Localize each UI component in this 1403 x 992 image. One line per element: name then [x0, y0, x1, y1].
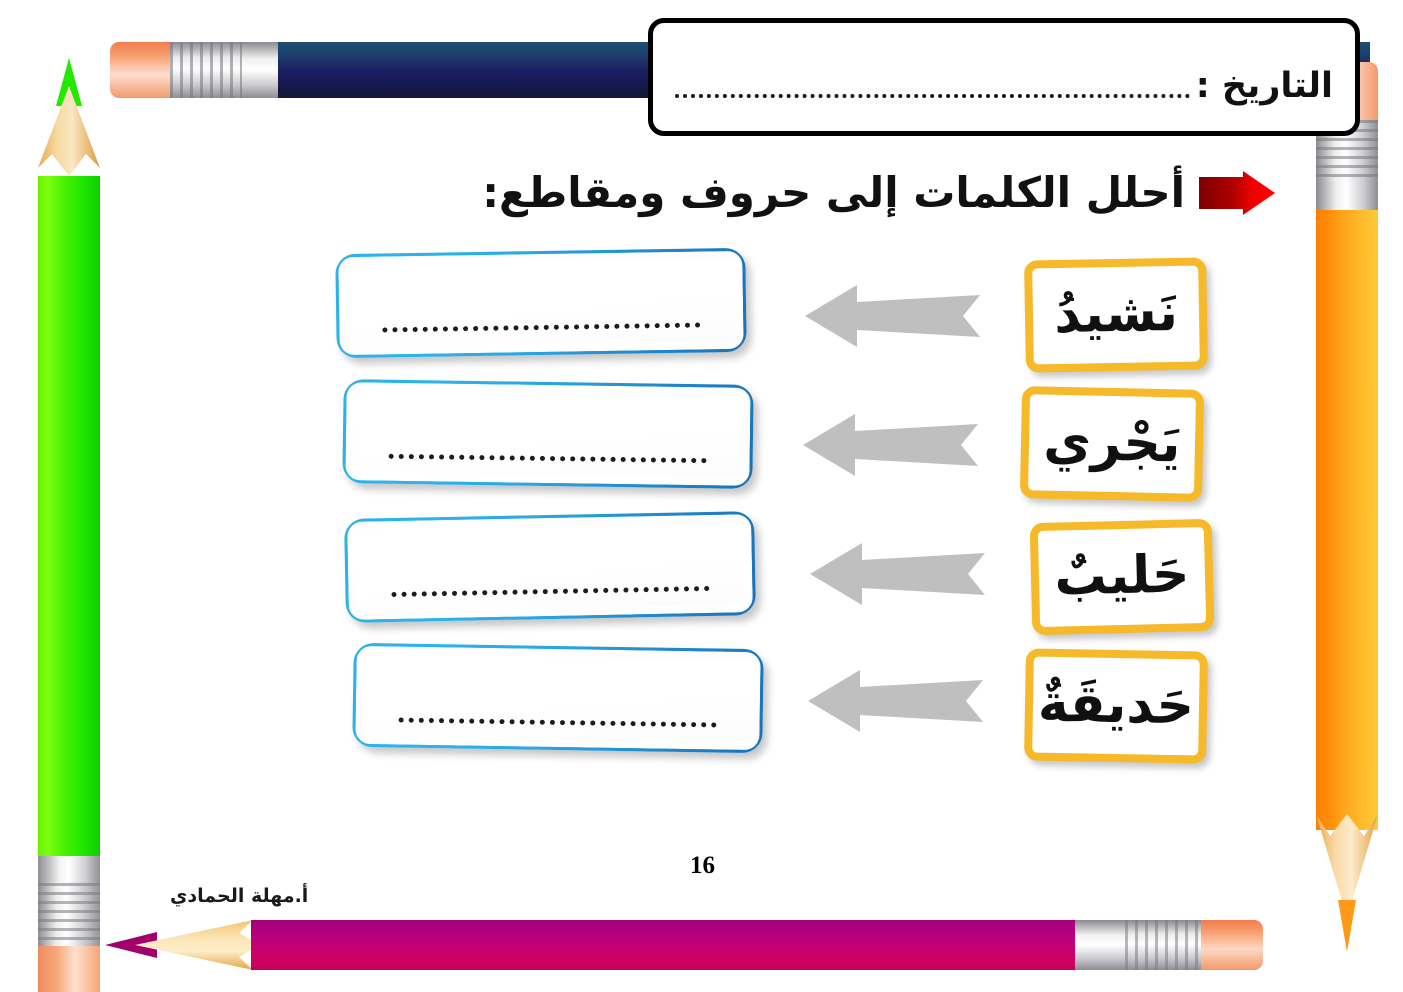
word-card-text: حَليبٌ: [1054, 545, 1190, 608]
page-number: 16: [690, 852, 715, 880]
answer-box-line[interactable]: [355, 646, 760, 750]
left-arrow-icon: [808, 670, 983, 732]
worksheet-page: التاريخ : أحلل الكلمات إلى حروف ومقاطع: …: [0, 0, 1403, 992]
red-arrow-bullet-icon: [1199, 171, 1275, 215]
pencil-eraser: [38, 946, 100, 992]
answer-box[interactable]: [352, 643, 764, 753]
date-field[interactable]: التاريخ :: [648, 18, 1360, 136]
answer-box[interactable]: [335, 248, 747, 358]
pencil-eraser: [1201, 920, 1263, 970]
pencil-wood-tip: [135, 920, 260, 970]
pencil-lead-tip-icon: [1316, 900, 1378, 952]
pencil-ferrule-bottom: [1316, 182, 1378, 212]
pencil-ferrule-top: [38, 856, 100, 882]
word-card[interactable]: نَشيدُ: [1024, 257, 1208, 372]
pencil-wood-tip: [38, 86, 100, 184]
page-title-text: أحلل الكلمات إلى حروف ومقاطع:: [482, 168, 1185, 217]
date-label: التاريخ :: [1196, 66, 1333, 106]
exercise-area: نَشيدُ يَجْري حَليبٌ: [0, 245, 1403, 805]
word-card[interactable]: يَجْري: [1020, 386, 1204, 502]
word-card[interactable]: حَليبٌ: [1030, 519, 1215, 635]
exercise-row: حَديقَةٌ: [0, 640, 1403, 762]
author-credit: أ.مهلة الحمادي: [170, 885, 308, 907]
answer-box[interactable]: [342, 379, 753, 489]
date-dotted-line[interactable]: [675, 93, 1190, 98]
left-arrow-icon: [810, 543, 985, 605]
word-card-text: حَديقَةٌ: [1037, 675, 1194, 738]
page-title: أحلل الكلمات إلى حروف ومقاطع:: [482, 168, 1275, 217]
answer-box-line[interactable]: [345, 382, 750, 486]
word-card-text: يَجْري: [1043, 413, 1181, 476]
pencil-eraser: [110, 42, 172, 98]
answer-box[interactable]: [344, 511, 756, 623]
exercise-row: نَشيدُ: [0, 245, 1403, 367]
pencil-barrel: [251, 920, 1081, 970]
answer-box-line[interactable]: [347, 514, 753, 620]
pencil-ferrule-end: [242, 42, 280, 98]
exercise-row: يَجْري: [0, 382, 1403, 504]
word-card-text: نَشيدُ: [1054, 284, 1179, 346]
left-arrow-icon: [805, 285, 980, 347]
left-arrow-icon: [803, 414, 978, 476]
pencil-ferrule-start: [1075, 920, 1125, 970]
magenta-pencil-bottom: [105, 920, 1295, 970]
answer-box-line[interactable]: [338, 251, 743, 355]
exercise-row: حَليبٌ: [0, 515, 1403, 637]
word-card[interactable]: حَديقَةٌ: [1024, 648, 1208, 763]
